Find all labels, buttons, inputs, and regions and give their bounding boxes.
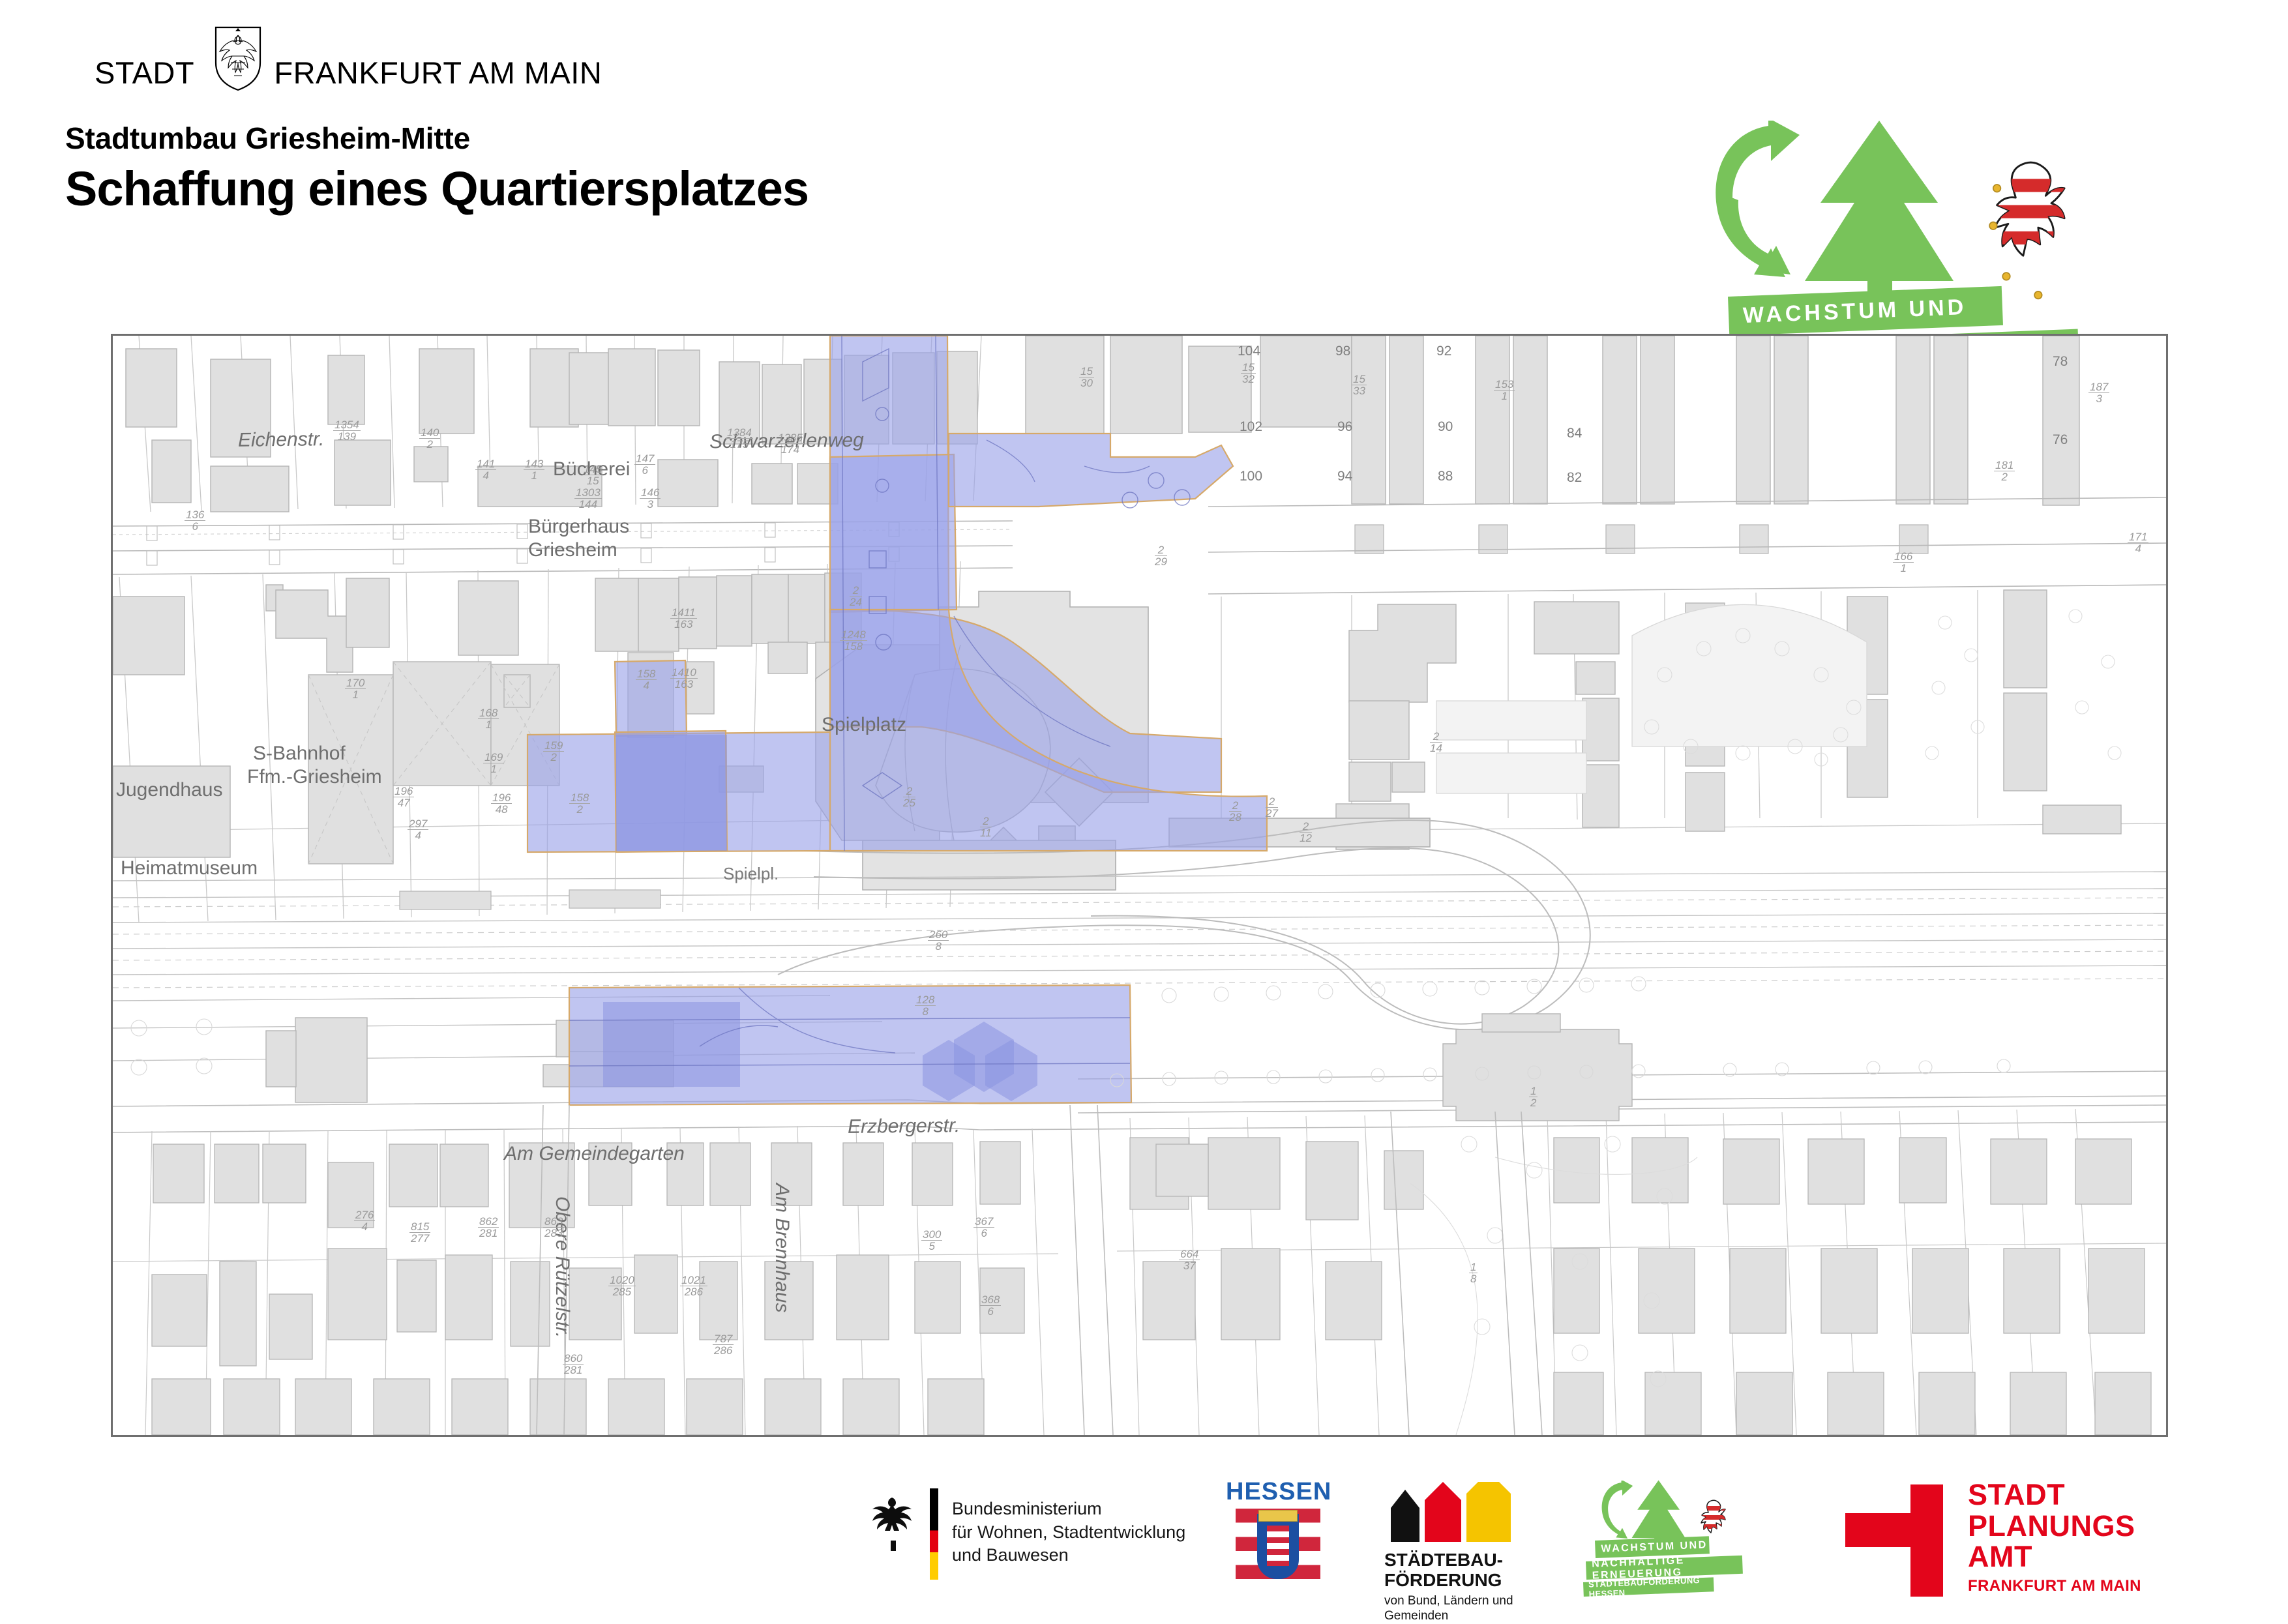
- hessen-lion-small: [1267, 1526, 1289, 1566]
- hessen-coat-of-arms-icon: [1236, 1509, 1320, 1593]
- staedtebau-line1: STÄDTEBAU-: [1384, 1550, 1503, 1570]
- city-logo-wordmark: STADT FRANKFURT AM MAIN: [95, 55, 512, 90]
- bmwsb-line1: Bundesministerium: [952, 1498, 1185, 1521]
- three-houses-icon: [1386, 1482, 1536, 1542]
- staedtebaufoerderung-logo: STÄDTEBAU- FÖRDERUNG von Bund, Ländern u…: [1379, 1482, 1575, 1599]
- hessen-crown: [1258, 1510, 1298, 1522]
- staedtebau-subtitle: von Bund, Ländern und Gemeinden: [1384, 1594, 1513, 1624]
- city-logo-stadt: STADT: [95, 55, 194, 90]
- cadastral-map[interactable]: Eichenstr. Schwarzerlenweg Erzbergerstr.…: [111, 334, 2168, 1437]
- hessen-logo: HESSEN: [1226, 1478, 1330, 1595]
- spa-line1: STADT: [1968, 1479, 2135, 1511]
- stadtplanungsamt-mark-icon: [1845, 1484, 1943, 1597]
- staedtebau-sub1: von Bund, Ländern und: [1384, 1594, 1513, 1609]
- title-block: Stadtumbau Griesheim-Mitte Schaffung ein…: [65, 121, 809, 216]
- spa-line2: PLANUNGS: [1968, 1511, 2135, 1542]
- hessen-lion-icon: [1963, 155, 2080, 304]
- city-logo: STADT FRANKFURT AM MAIN: [95, 38, 512, 93]
- stadtplanungsamt-wordmark: STADT PLANUNGS AMT: [1968, 1479, 2135, 1572]
- footer-logos: Bundesministerium für Wohnen, Stadtentwi…: [0, 1470, 2288, 1610]
- page-title: Schaffung eines Quartiersplatzes: [65, 161, 809, 216]
- project-subtitle: Stadtumbau Griesheim-Mitte: [65, 121, 809, 156]
- city-logo-frankfurt: FRANKFURT AM MAIN: [274, 55, 602, 90]
- staedtebau-title: STÄDTEBAU- FÖRDERUNG: [1384, 1550, 1503, 1591]
- spa-line3: AMT: [1968, 1541, 2135, 1572]
- hessen-wordmark: HESSEN: [1226, 1478, 1330, 1506]
- german-flag-bar-icon: [930, 1488, 938, 1580]
- staedtebau-sub2: Gemeinden: [1384, 1609, 1513, 1624]
- bundesministerium-logo: Bundesministerium für Wohnen, Stadtentwi…: [867, 1483, 1213, 1581]
- bmwsb-line3: und Bauwesen: [952, 1544, 1185, 1567]
- program-logo-footer: WACHSTUM UND NACHHALTIGE ERNEUERUNG STÄD…: [1591, 1481, 1767, 1598]
- spa-subtitle: FRANKFURT AM MAIN: [1968, 1577, 2141, 1595]
- map-vector-layer: [113, 336, 2166, 1435]
- staedtebau-line2: FÖRDERUNG: [1384, 1570, 1503, 1590]
- federal-eagle-icon: [867, 1495, 919, 1554]
- bundesministerium-text: Bundesministerium für Wohnen, Stadtentwi…: [952, 1498, 1185, 1567]
- bmwsb-line2: für Wohnen, Stadtentwicklung: [952, 1521, 1185, 1544]
- program-footer-line3: STÄDTEBAUFÖRDERUNG HESSEN: [1583, 1577, 1714, 1597]
- stadtplanungsamt-logo: STADT PLANUNGS AMT FRANKFURT AM MAIN: [1845, 1479, 2210, 1603]
